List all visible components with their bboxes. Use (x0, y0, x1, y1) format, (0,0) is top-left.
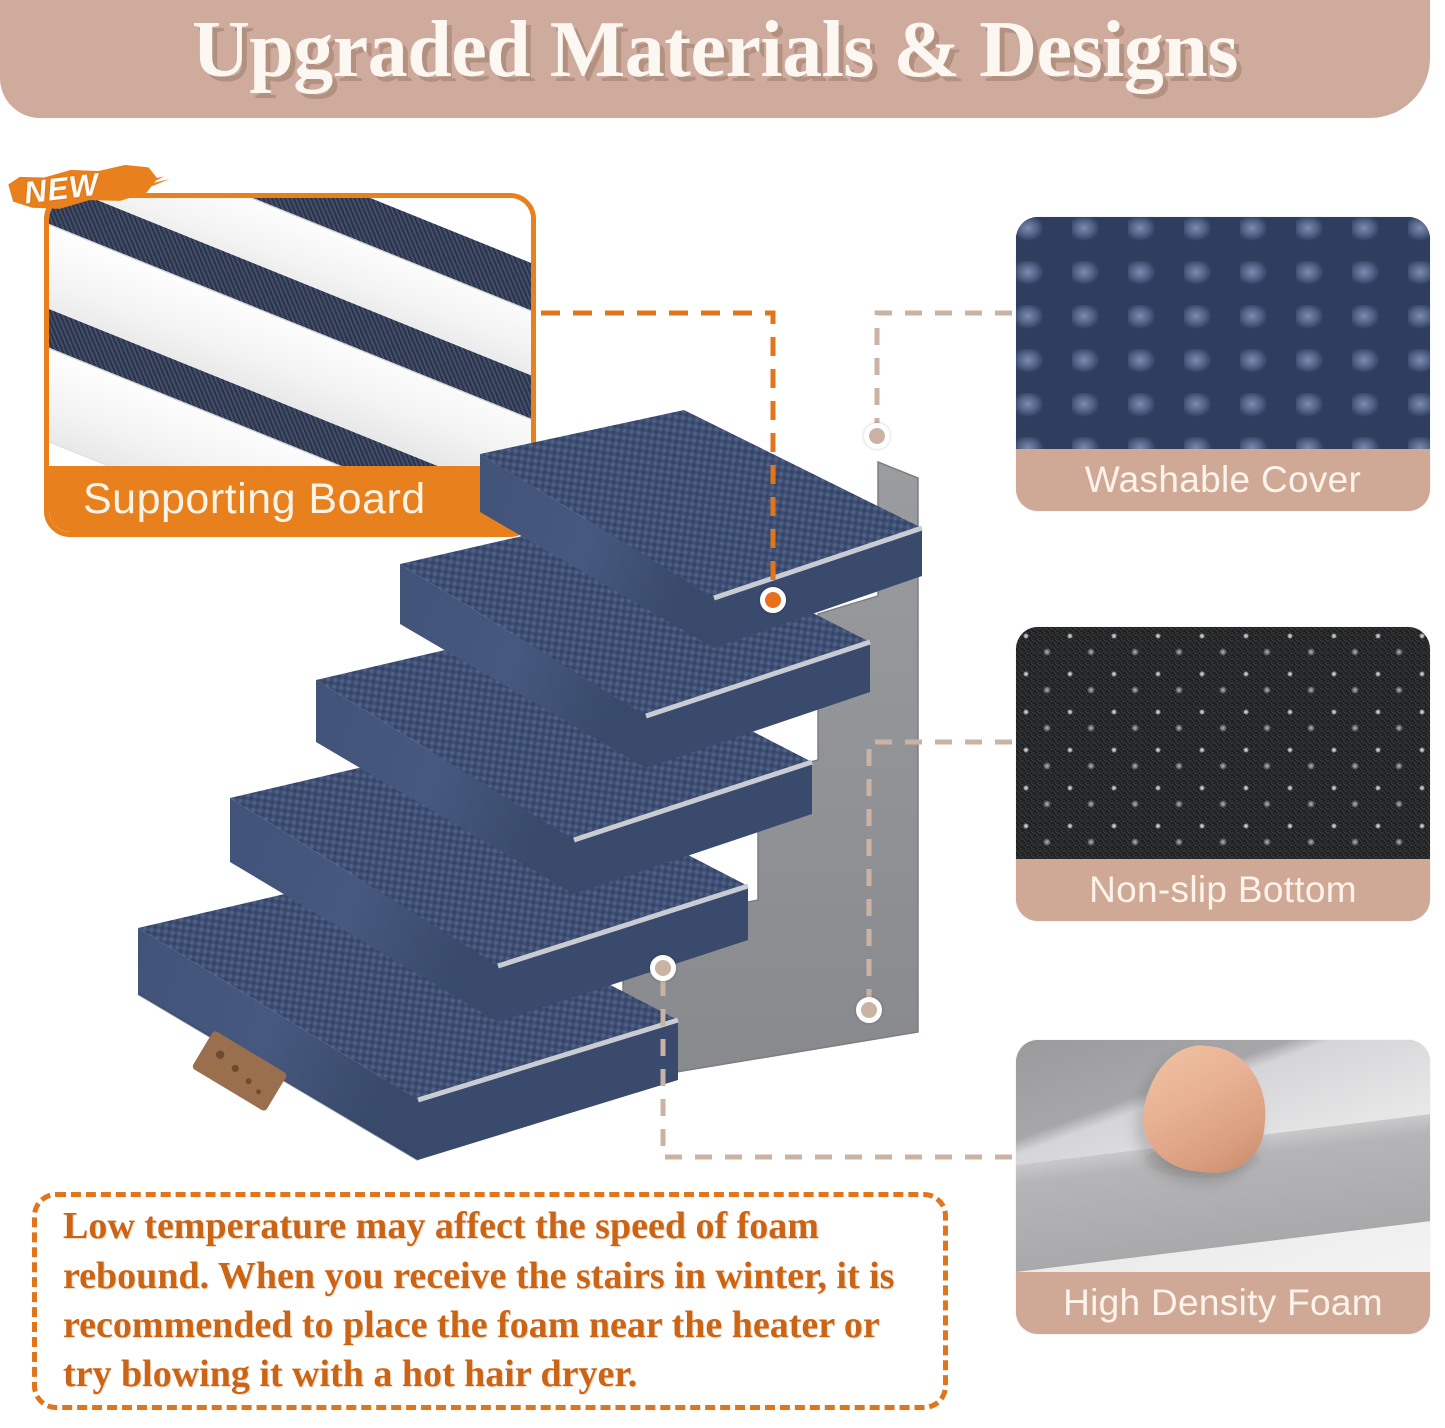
non-slip-bottom-photo (1016, 627, 1430, 859)
non-slip-bottom-label: Non-slip Bottom (1089, 869, 1357, 911)
high-density-foam-caption: High Density Foam (1016, 1272, 1430, 1334)
non-slip-bottom-caption: Non-slip Bottom (1016, 859, 1430, 921)
callout-dot-high-density-foam (650, 955, 676, 981)
washable-cover-caption: Washable Cover (1016, 449, 1430, 511)
new-badge: NEW (6, 160, 166, 218)
feature-card-non-slip-bottom: Non-slip Bottom (1016, 627, 1430, 921)
feature-card-washable-cover: Washable Cover (1016, 217, 1430, 511)
page-title: Upgraded Materials & Designs (0, 0, 1430, 118)
washable-cover-label: Washable Cover (1085, 459, 1361, 501)
callout-dot-non-slip-bottom (856, 997, 882, 1023)
callout-dot-washable-cover (864, 423, 890, 449)
new-badge-label: NEW (22, 167, 101, 212)
feature-card-high-density-foam: High Density Foam (1016, 1040, 1430, 1334)
product-image-pet-stairs (118, 400, 988, 1190)
high-density-foam-label: High Density Foam (1063, 1282, 1383, 1324)
high-density-foam-photo (1016, 1040, 1430, 1272)
warning-note-text: Low temperature may affect the speed of … (63, 1202, 917, 1400)
washable-cover-photo (1016, 217, 1430, 449)
callout-dot-supporting-board (760, 587, 786, 613)
header-band: Upgraded Materials & Designs (0, 0, 1430, 118)
warning-note-box: Low temperature may affect the speed of … (32, 1192, 948, 1410)
